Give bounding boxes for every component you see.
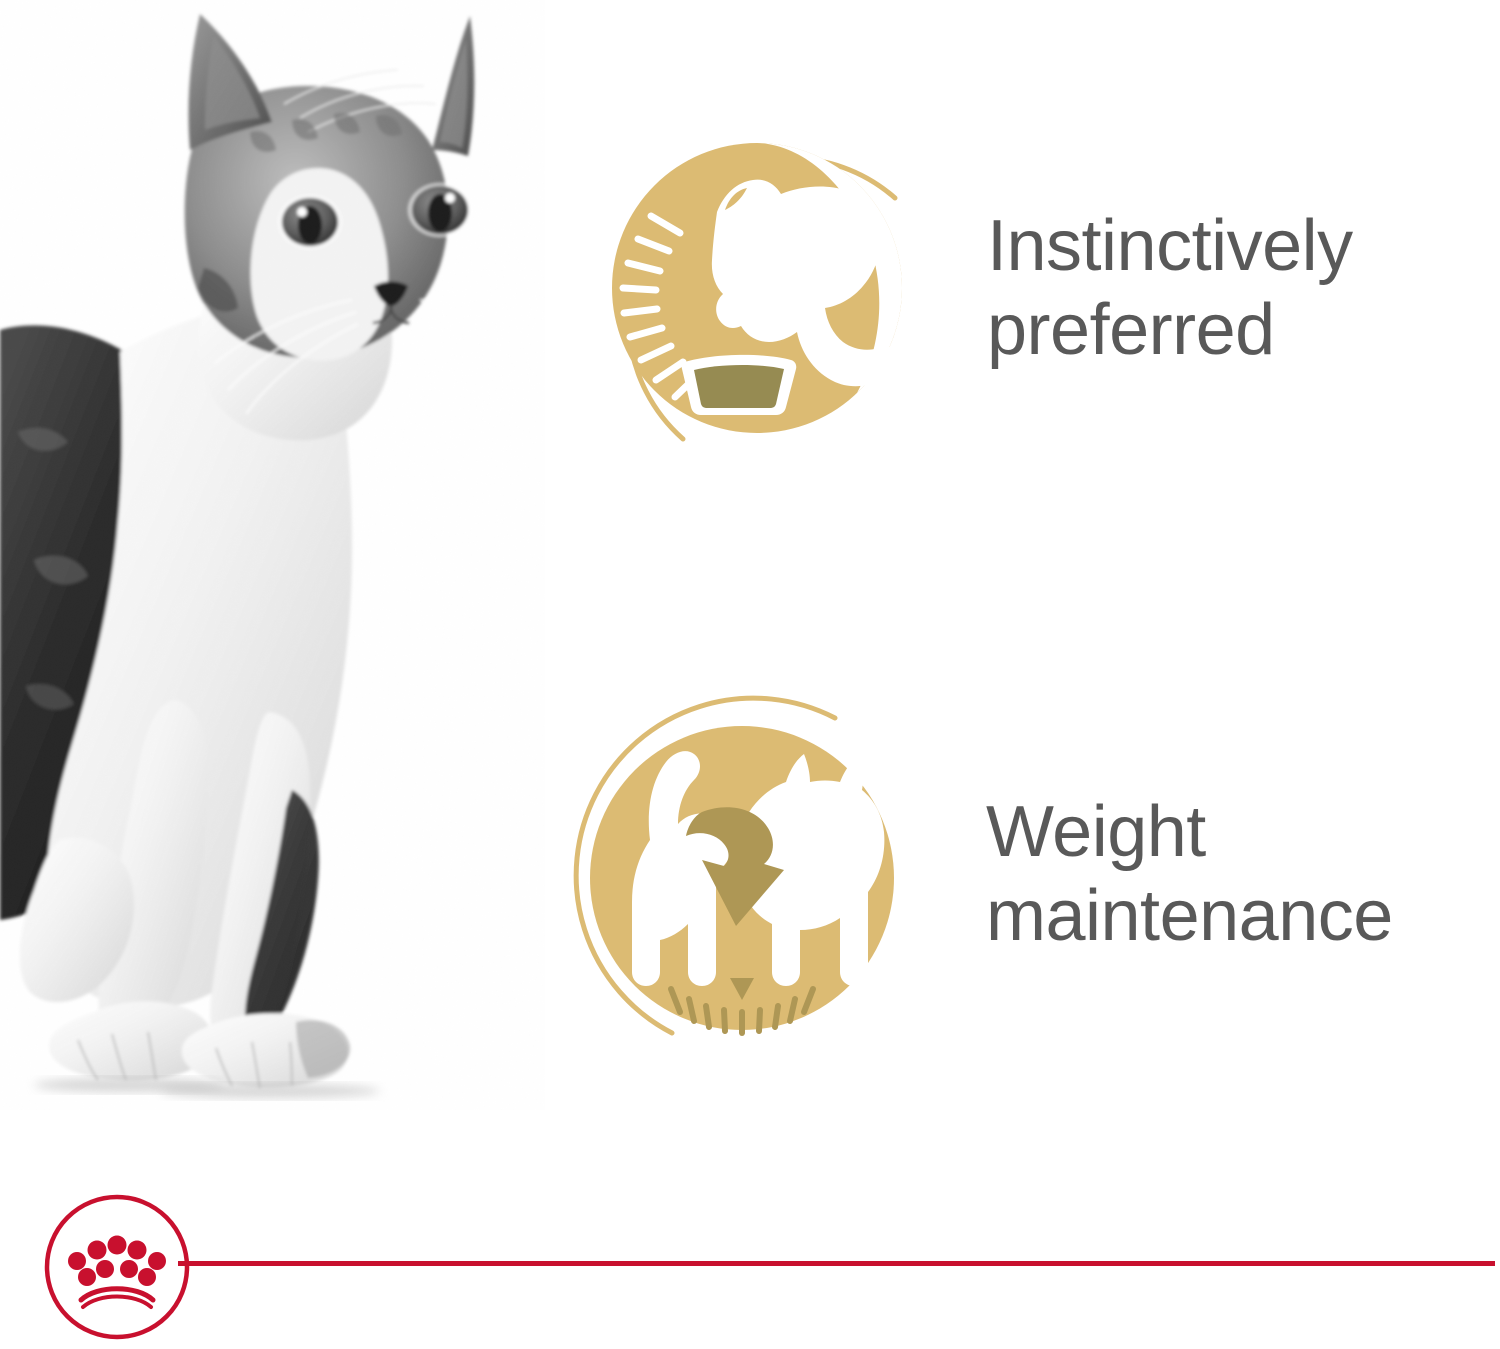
brand-footer [0,1185,1500,1349]
feature-instinctively-preferred: Instinctively preferred [565,108,1353,468]
feature-label-weight-maintenance: Weight maintenance [986,790,1393,958]
feature-label-instinctively-preferred: Instinctively preferred [987,204,1353,372]
cat-photograph [0,0,545,1110]
brand-rule-line [178,1261,1495,1266]
feature-weight-maintenance: Weight maintenance [552,688,1393,1060]
cat-weight-scale-icon [552,688,924,1060]
cat-eating-from-bowl-icon [565,108,925,468]
product-feature-panel: Instinctively preferred [0,0,1500,1349]
royal-canin-crown-logo [43,1193,191,1341]
